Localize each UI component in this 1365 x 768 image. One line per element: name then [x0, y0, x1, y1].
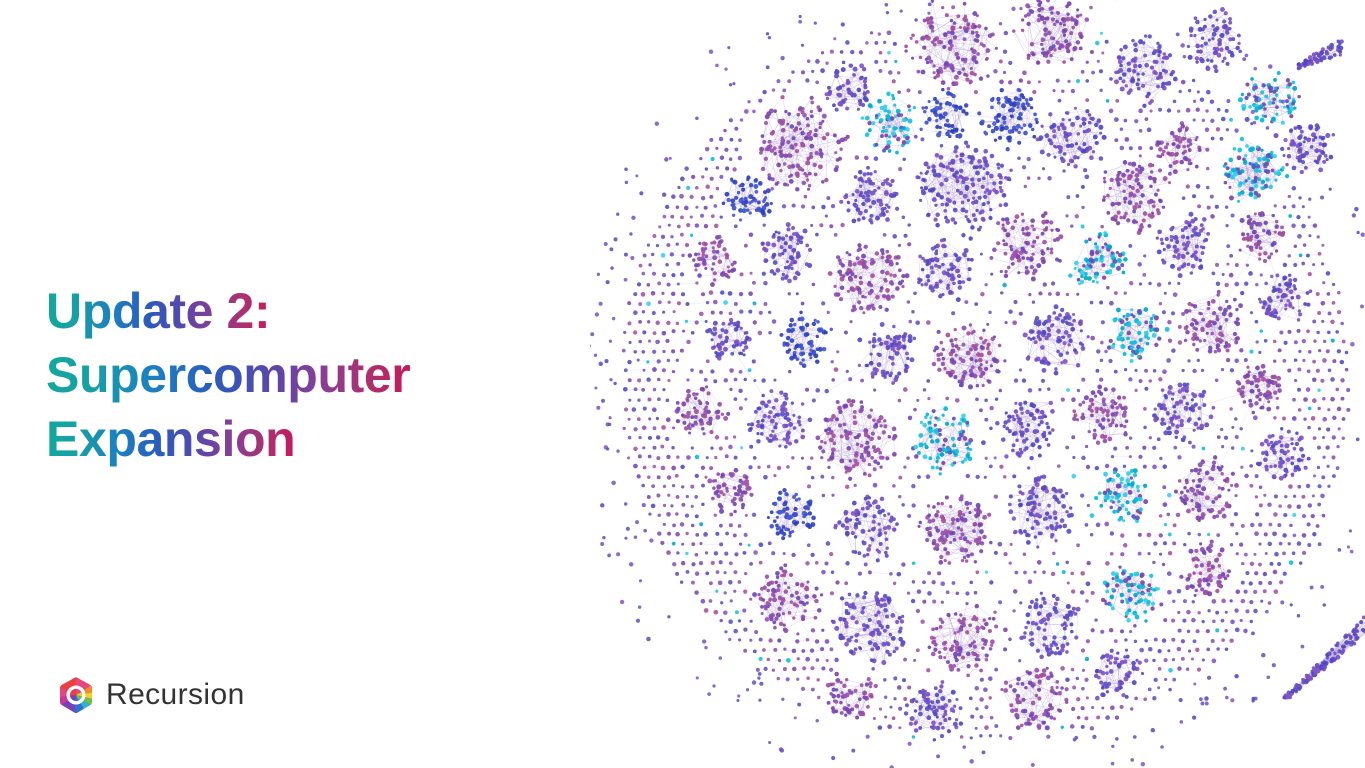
- slide-canvas: Update 2: Supercomputer Expansion: [0, 0, 1365, 768]
- network-nodes-layer: [590, 0, 1365, 768]
- brand-wordmark: Recursion: [106, 680, 245, 710]
- title-line-3: Expansion: [46, 407, 295, 471]
- network-graph-svg: [590, 0, 1365, 768]
- title-line-1: Update 2:: [46, 279, 270, 343]
- network-cluster-visualization: [590, 0, 1365, 768]
- title-line-2: Supercomputer: [46, 343, 410, 407]
- recursion-hexagon-logo-icon: [57, 676, 95, 714]
- page-title: Update 2: Supercomputer Expansion: [46, 279, 566, 471]
- brand-logo: Recursion: [57, 676, 245, 714]
